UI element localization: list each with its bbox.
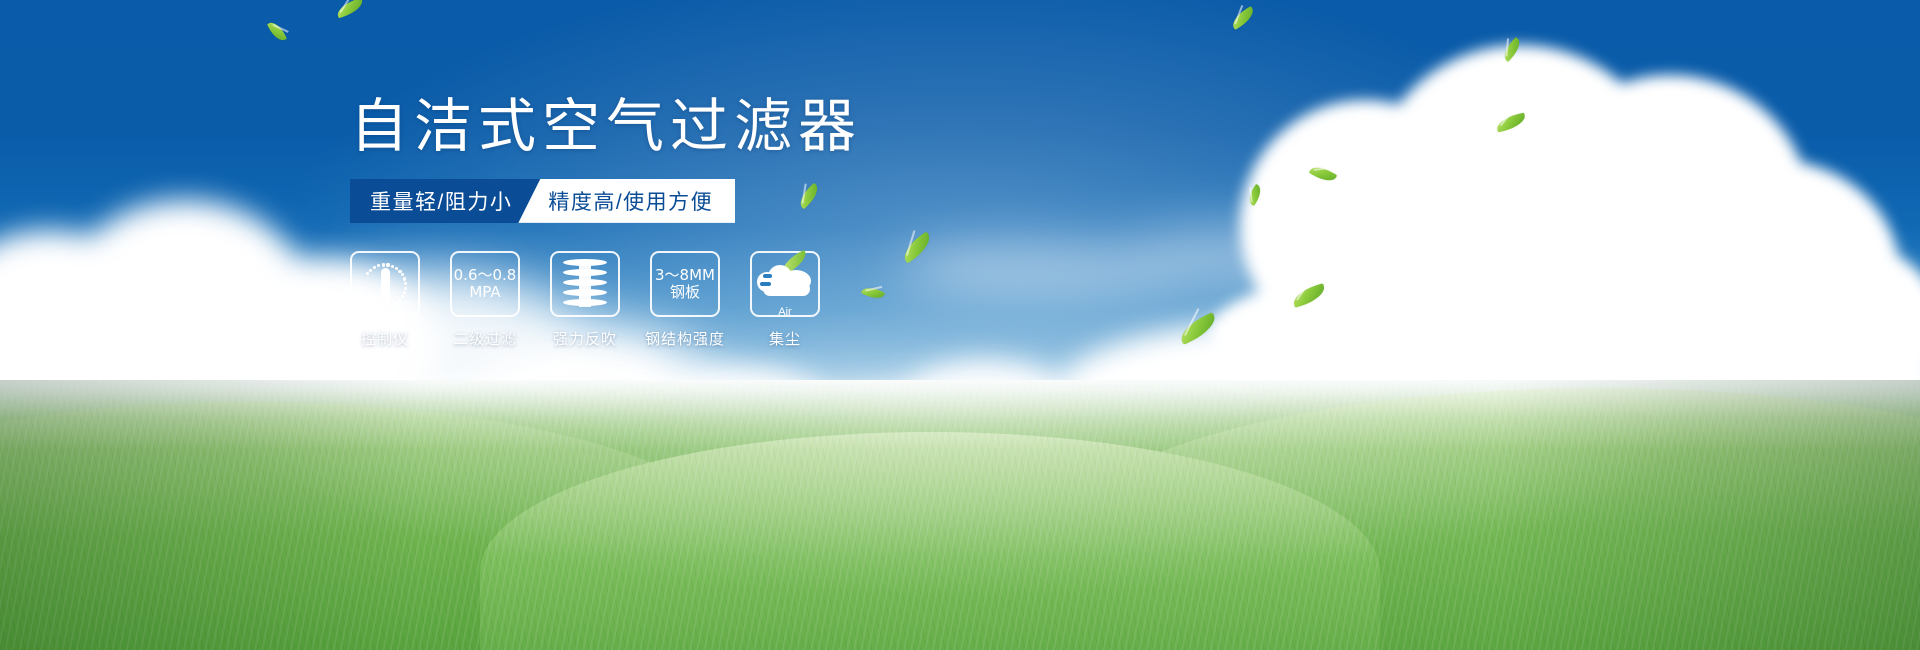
feature-steel-strength[interactable]: 3～8MM 钢板 钢结构强度 [650, 251, 720, 349]
tag-weight-resistance[interactable]: 重量轻/阻力小 [350, 179, 538, 223]
gauge-tick [369, 300, 372, 303]
gauge-tick [401, 295, 404, 298]
product-hero-banner: 自洁式空气过滤器 重量轻/阻力小 精度高/使用方便 NO OFF [0, 0, 1920, 650]
tag-label: 精度高/使用方便 [548, 186, 713, 216]
feature-icon-row: NO OFF 控制仪 0.6～0.8 MPA 二级过滤 [350, 251, 1050, 349]
feature-caption: 钢结构强度 [645, 328, 725, 349]
feature-controller[interactable]: NO OFF 控制仪 [350, 251, 420, 349]
feature-icon-box [550, 251, 620, 317]
feature-two-stage-filter[interactable]: 0.6～0.8 MPA 二级过滤 [450, 251, 520, 349]
gauge-max-label: OFF [402, 301, 413, 307]
feature-caption: 控制仪 [361, 328, 409, 349]
filter-disc [563, 289, 607, 296]
tag-group: 重量轻/阻力小 精度高/使用方便 [350, 179, 1050, 223]
gauge-tick [377, 264, 380, 267]
gauge-tick [366, 296, 369, 299]
banner-content: 自洁式空气过滤器 重量轻/阻力小 精度高/使用方便 NO OFF [350, 96, 1050, 349]
gauge-tick [382, 305, 385, 308]
gauge-tick [386, 305, 389, 308]
gauge-tick [395, 302, 398, 305]
feature-icon-box: 3～8MM 钢板 [650, 251, 720, 317]
gauge-needle [381, 268, 390, 302]
feature-icon-box: Air [750, 251, 820, 317]
filter-disc [563, 269, 607, 276]
air-label: Air [757, 306, 813, 318]
filter-disc [563, 279, 607, 286]
filter-disc [563, 259, 607, 266]
tag-label: 重量轻/阻力小 [370, 186, 512, 216]
gauge-tick [391, 265, 394, 268]
gauge-tick [373, 303, 376, 306]
gauge-min-label: NO [356, 286, 364, 292]
grass-field [0, 380, 1920, 650]
page-title: 自洁式空气过滤器 [350, 96, 1050, 157]
gauge-tick [382, 263, 385, 266]
gauge-tick [403, 291, 406, 294]
gauge-tick [366, 272, 369, 275]
feature-caption: 二级过滤 [453, 328, 517, 349]
filter-stack-icon [563, 259, 607, 309]
grass-vignette [0, 380, 1920, 650]
gauge-tick [398, 299, 401, 302]
cloud-cut [760, 282, 771, 286]
gauge-tick [404, 287, 407, 290]
gauge-tick [369, 269, 372, 272]
tag-precision-convenience[interactable]: 精度高/使用方便 [518, 179, 735, 223]
feature-icon-box: NO OFF [350, 251, 420, 317]
gauge-tick [403, 277, 406, 280]
gauge-tick [404, 282, 407, 285]
gauge-tick [391, 304, 394, 307]
pressure-text-icon: 0.6～0.8 MPA [454, 267, 517, 301]
filter-disc [563, 299, 607, 306]
feature-caption: 集尘 [769, 328, 801, 349]
feature-dust-collection[interactable]: Air 集尘 [750, 251, 820, 349]
gauge-tick [401, 273, 404, 276]
gauge-tick [373, 266, 376, 269]
gauge-tick [377, 304, 380, 307]
steel-plate-icon: 3～8MM 钢板 [655, 267, 715, 301]
gauge-icon: NO OFF [357, 259, 413, 309]
feature-icon-box: 0.6～0.8 MPA [450, 251, 520, 317]
feature-caption: 强力反吹 [553, 328, 617, 349]
feature-strong-backblow[interactable]: 强力反吹 [550, 251, 620, 349]
gauge-tick [386, 263, 389, 266]
cloud-cut [763, 274, 772, 278]
cloud-air-icon: Air [757, 262, 813, 306]
